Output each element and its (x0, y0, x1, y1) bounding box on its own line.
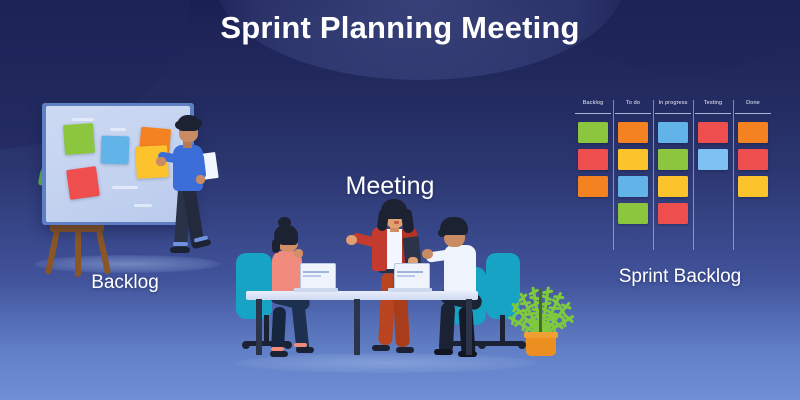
column-in-progress-header: In progress (655, 100, 691, 106)
column-testing-header: Testing (695, 100, 731, 106)
kanban-card[interactable] (698, 122, 728, 143)
kanban-card[interactable] (698, 149, 728, 170)
column-done-rule (735, 113, 771, 114)
meeting-scene (228, 195, 538, 375)
label-meeting: Meeting (300, 172, 480, 201)
kanban-column-divider (613, 100, 614, 250)
whiteboard-line-1 (72, 118, 94, 121)
column-backlog-header: Backlog (575, 100, 611, 106)
kanban-card[interactable] (738, 149, 768, 170)
kanban-card[interactable] (658, 203, 688, 224)
whiteboard-line-2 (110, 128, 126, 131)
sprint-backlog-board: BacklogTo doIn progressTestingDone (575, 100, 775, 250)
kanban-card[interactable] (618, 149, 648, 170)
column-in-progress-rule (655, 113, 691, 114)
kanban-column-divider (693, 100, 694, 250)
whiteboard-line-4 (134, 204, 152, 207)
column-to-do[interactable]: To do (615, 100, 651, 250)
column-done[interactable]: Done (735, 100, 771, 250)
presenter-person (156, 109, 226, 259)
kanban-card[interactable] (658, 149, 688, 170)
note-green (63, 123, 95, 155)
kanban-card[interactable] (738, 176, 768, 197)
label-sprint-backlog: Sprint Backlog (585, 266, 775, 288)
kanban-card[interactable] (738, 122, 768, 143)
column-to-do-header: To do (615, 100, 651, 106)
kanban-card[interactable] (578, 122, 608, 143)
whiteboard-line-3 (112, 186, 138, 189)
column-done-header: Done (735, 100, 771, 106)
note-red (66, 166, 100, 200)
column-testing-rule (695, 113, 731, 114)
kanban-column-divider (653, 100, 654, 250)
column-testing[interactable]: Testing (695, 100, 731, 250)
kanban-card[interactable] (658, 122, 688, 143)
kanban-card[interactable] (578, 176, 608, 197)
label-backlog: Backlog (35, 272, 215, 294)
kanban-column-divider (733, 100, 734, 250)
kanban-card[interactable] (658, 176, 688, 197)
kanban-card[interactable] (618, 176, 648, 197)
kanban-card[interactable] (618, 203, 648, 224)
illustration-canvas: Sprint Planning Meeting (0, 0, 800, 400)
plant-right (518, 268, 578, 368)
column-to-do-rule (615, 113, 651, 114)
page-title: Sprint Planning Meeting (0, 10, 800, 46)
backlog-scene (28, 95, 228, 285)
kanban-card[interactable] (618, 122, 648, 143)
kanban-card[interactable] (578, 149, 608, 170)
note-blue (101, 136, 130, 165)
column-in-progress[interactable]: In progress (655, 100, 691, 250)
column-backlog[interactable]: Backlog (575, 100, 611, 250)
column-backlog-rule (575, 113, 611, 114)
